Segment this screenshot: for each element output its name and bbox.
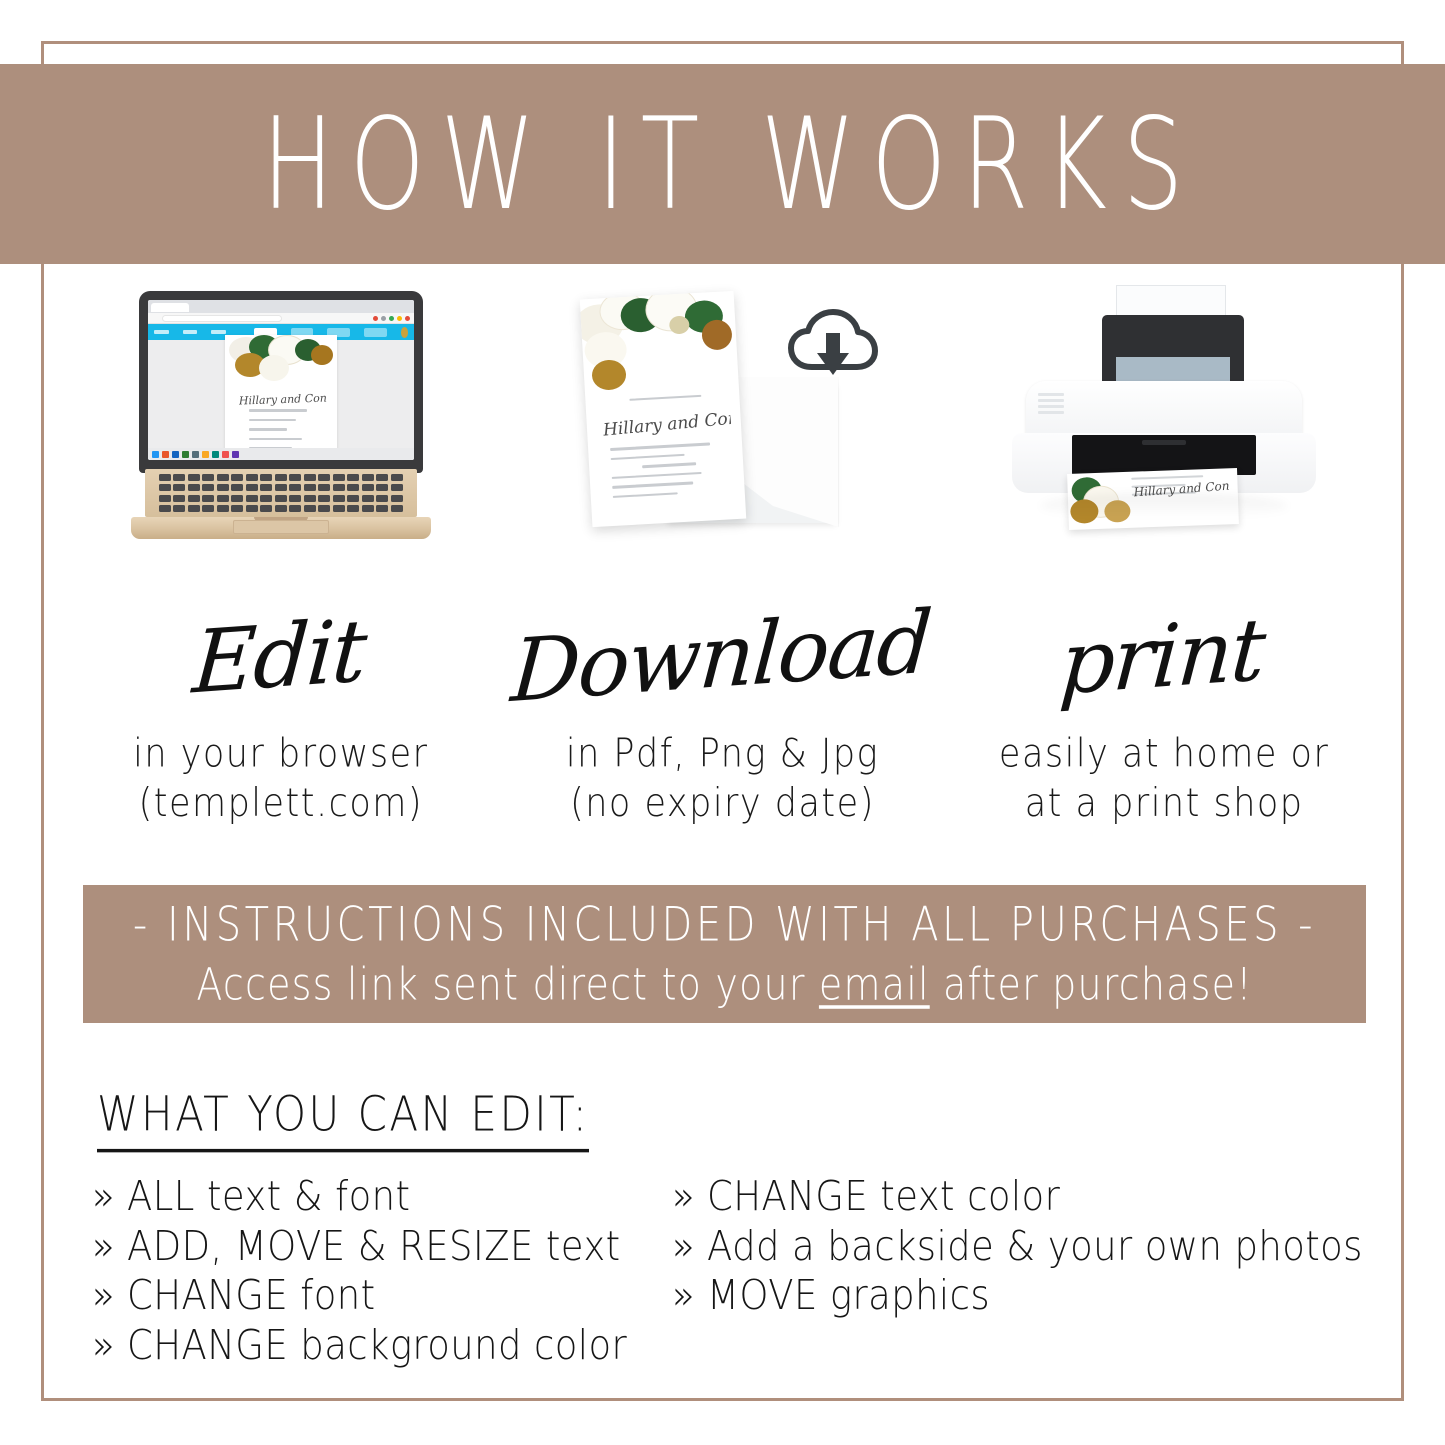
invitation-preview: Hillary and Connor xyxy=(225,335,337,453)
printer-reflection xyxy=(1040,493,1288,519)
step-print-caption-line1: easily at home or xyxy=(999,731,1329,780)
step-edit-caption: in your browser (templett.com) xyxy=(133,731,428,829)
step-edit-caption-line2: (templett.com) xyxy=(133,780,428,829)
instructions-subline-before: Access link sent direct to your xyxy=(196,958,819,1010)
list-item-label: ADD, MOVE & RESIZE text xyxy=(127,1222,620,1269)
list-item-label: CHANGE text color xyxy=(707,1173,1060,1220)
bullet-icon: » xyxy=(92,1173,115,1220)
step-edit: Hillary and Connor xyxy=(60,285,502,824)
edit-section-heading: WHAT YOU CAN EDIT: xyxy=(97,1086,589,1153)
steps-row: Hillary and Connor xyxy=(60,285,1385,824)
laptop-screen: Hillary and Connor xyxy=(148,300,414,460)
step-download-script-label: Download xyxy=(508,545,936,715)
list-item: »ALL text & font xyxy=(92,1173,672,1221)
os-taskbar xyxy=(148,448,414,460)
invitation-card-names: Hillary and Connor xyxy=(603,409,732,441)
step-print-caption: easily at home or at a print shop xyxy=(999,731,1329,829)
list-item-label: ALL text & font xyxy=(127,1173,410,1220)
list-item-label: CHANGE font xyxy=(127,1272,375,1319)
toolbar-menu-edit xyxy=(183,330,198,334)
avatar xyxy=(401,327,408,338)
edit-bullets-right: »CHANGE text color »Add a backside & you… xyxy=(672,1175,1392,1374)
editor-canvas: Hillary and Connor xyxy=(148,340,414,448)
how-it-works-infographic: HOW IT WORKS xyxy=(0,0,1445,1445)
step-edit-caption-line1: in your browser xyxy=(133,731,428,780)
instructions-banner: - INSTRUCTIONS INCLUDED WITH ALL PURCHAS… xyxy=(83,885,1366,1023)
toolbar-help-button xyxy=(364,328,387,337)
list-item: »CHANGE font xyxy=(92,1272,672,1320)
laptop-illustration: Hillary and Connor xyxy=(60,285,502,560)
toolbar-menu-file xyxy=(154,330,169,334)
browser-extension-icons xyxy=(373,316,410,321)
step-print-caption-line2: at a print shop xyxy=(999,780,1329,829)
printer-top-body xyxy=(1026,381,1302,437)
browser-url-input xyxy=(162,315,282,322)
invitation-card-body xyxy=(611,442,730,505)
header-banner: HOW IT WORKS xyxy=(0,64,1445,264)
page-title: HOW IT WORKS xyxy=(246,101,1199,228)
step-download-caption-line2: (no expiry date) xyxy=(566,780,879,829)
printer-graphic: Hillary and Connor xyxy=(1004,285,1324,557)
invitation-card: Hillary and Connor xyxy=(580,291,746,527)
laptop-trackpad xyxy=(233,520,329,534)
bullet-icon: » xyxy=(92,1272,115,1319)
toolbar-menu-tools xyxy=(211,330,226,334)
printer-tray-insert xyxy=(1116,357,1230,383)
browser-tab xyxy=(151,303,189,312)
step-download-caption-line1: in Pdf, Png & Jpg xyxy=(566,731,879,780)
list-item-label: MOVE graphics xyxy=(707,1272,990,1319)
list-item-label: CHANGE background color xyxy=(127,1322,627,1369)
step-print-script-label: print xyxy=(1058,552,1271,707)
browser-tabstrip xyxy=(148,300,414,313)
instructions-headline: - INSTRUCTIONS INCLUDED WITH ALL PURCHAS… xyxy=(133,898,1316,952)
laptop-lid: Hillary and Connor xyxy=(139,291,423,473)
bullet-icon: » xyxy=(672,1173,695,1220)
instructions-subline: Access link sent direct to your email af… xyxy=(196,958,1252,1010)
invitation-body-lines xyxy=(249,409,315,453)
download-cloud-icon xyxy=(788,309,878,383)
edit-bullets-left: »ALL text & font »ADD, MOVE & RESIZE tex… xyxy=(92,1175,672,1374)
edit-bullet-columns: »ALL text & font »ADD, MOVE & RESIZE tex… xyxy=(92,1175,1392,1374)
step-download-caption: in Pdf, Png & Jpg (no expiry date) xyxy=(566,731,879,829)
laptop-keyboard xyxy=(145,469,417,517)
bullet-icon: » xyxy=(672,1222,695,1269)
list-item: »ADD, MOVE & RESIZE text xyxy=(92,1222,672,1270)
list-item: »MOVE graphics xyxy=(672,1272,1392,1320)
invitation-download-illustration: Hillary and Connor xyxy=(502,285,944,560)
printer-illustration: Hillary and Connor xyxy=(943,285,1385,560)
bullet-icon: » xyxy=(92,1322,115,1369)
instructions-subline-after: after purchase! xyxy=(930,958,1253,1010)
list-item: »CHANGE background color xyxy=(92,1322,672,1370)
list-item: »Add a backside & your own photos xyxy=(672,1222,1392,1270)
step-print: Hillary and Connor print easily at home … xyxy=(943,285,1385,824)
list-item: »CHANGE text color xyxy=(672,1173,1392,1221)
step-edit-script-label: Edit xyxy=(190,553,371,706)
printer-control-panel xyxy=(1038,393,1064,413)
step-download: Hillary and Connor xyxy=(502,285,944,824)
laptop-graphic: Hillary and Connor xyxy=(131,291,431,541)
invitation-top-line xyxy=(608,394,724,408)
bullet-icon: » xyxy=(92,1222,115,1269)
invitation-graphic: Hillary and Connor xyxy=(572,289,872,554)
list-item-label: Add a backside & your own photos xyxy=(707,1222,1363,1269)
bullet-icon: » xyxy=(672,1272,695,1319)
email-link[interactable]: email xyxy=(819,958,930,1010)
browser-urlbar-row xyxy=(148,313,414,324)
